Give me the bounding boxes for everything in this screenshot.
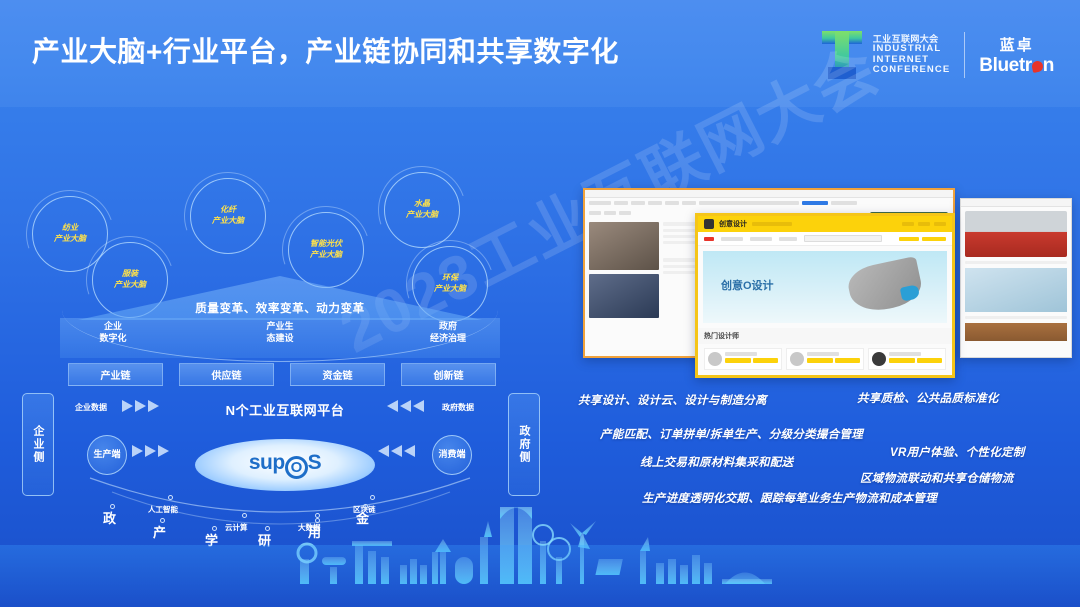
slide-root: 产业大脑+行业平台，产业链协同和共享数字化 工业 xyxy=(0,0,1080,607)
mini-chip xyxy=(665,201,679,205)
arrow-left-icon xyxy=(413,400,424,412)
city-skyline xyxy=(0,497,1080,607)
designer-card[interactable] xyxy=(786,348,864,370)
avatar xyxy=(708,352,722,366)
avatar xyxy=(790,352,804,366)
conference-logo: 工业互联网大会 INDUSTRIAL INTERNET CONFERENCE xyxy=(820,29,951,81)
chain-row: 产业链 供应链 资金链 创新链 xyxy=(68,363,498,387)
mini-topbar xyxy=(585,190,953,198)
bluetron-name-en-post: n xyxy=(1043,55,1054,76)
designer-action-button[interactable] xyxy=(917,358,943,363)
mini-text-line xyxy=(807,352,839,356)
designer-card[interactable] xyxy=(868,348,946,370)
arrow-left-icon xyxy=(404,445,415,457)
mini-chip xyxy=(604,211,616,215)
nav-item[interactable] xyxy=(750,237,772,241)
header-bar: 产业大脑+行业平台，产业链协同和共享数字化 工业 xyxy=(0,0,1080,107)
mini-chip xyxy=(699,201,799,205)
chain-box[interactable]: 供应链 xyxy=(179,363,274,386)
production-end-node[interactable]: 生产端 xyxy=(87,435,127,475)
mini-chip xyxy=(648,201,662,205)
nav-actions xyxy=(899,237,946,241)
design-platform-brand: 创意设计 xyxy=(719,219,747,229)
header-link[interactable] xyxy=(902,222,914,226)
mini-secondary-button[interactable] xyxy=(831,201,857,205)
mini-chip xyxy=(682,201,696,205)
arrow-left-icon xyxy=(387,400,398,412)
design-platform-screenshot[interactable]: 创意设计 创意O设计 xyxy=(695,213,955,378)
arrow-right-icon xyxy=(135,400,146,412)
mini-listing-column xyxy=(589,222,659,318)
chain-box[interactable]: 创新链 xyxy=(401,363,496,386)
mini-chip xyxy=(752,222,792,226)
product-listing-screenshot[interactable] xyxy=(960,198,1072,358)
industry-brain-label: 智能光伏产业大脑 xyxy=(310,239,342,261)
arrow-right-icon xyxy=(122,400,133,412)
designer-card-row xyxy=(698,344,952,374)
nav-item[interactable] xyxy=(779,237,797,241)
chain-box[interactable]: 资金链 xyxy=(290,363,385,386)
bluetron-logo: 蓝卓 Bluetrn xyxy=(979,34,1054,77)
government-side-label: 政府侧 xyxy=(516,425,532,464)
header-link[interactable] xyxy=(934,222,946,226)
arrow-left-icon xyxy=(391,445,402,457)
popular-designers-heading: 热门设计师 xyxy=(698,328,952,344)
bluetron-name-cn: 蓝卓 xyxy=(1000,34,1034,55)
mini-text-line xyxy=(725,352,757,356)
enterprise-side-label: 企业侧 xyxy=(30,425,46,464)
mini-filter-row xyxy=(585,198,953,208)
nav-item[interactable] xyxy=(704,237,714,241)
mini-chip xyxy=(631,201,645,205)
platform-title: N个工业互联网平台 xyxy=(160,400,410,419)
consumption-flow-arrows xyxy=(378,445,415,457)
brand-bar: 工业互联网大会 INDUSTRIAL INTERNET CONFERENCE 蓝… xyxy=(820,24,1054,86)
mini-chip xyxy=(614,201,628,205)
government-side-column[interactable]: 政府侧 xyxy=(508,393,540,496)
chain-box[interactable]: 产业链 xyxy=(68,363,163,386)
capability-bullet: 线上交易和原材料集采和配送 xyxy=(640,454,793,470)
hero-banner-title: 创意O设计 xyxy=(721,277,774,293)
arrow-left-icon xyxy=(378,445,389,457)
ground-glow xyxy=(0,545,1080,607)
architecture-diagram: 纺业产业大脑 服装产业大脑 化纤产业大脑 智能光伏产业大脑 水晶产业大脑 环保产 xyxy=(0,150,560,530)
design-platform-header-links xyxy=(902,222,946,226)
consumption-end-node[interactable]: 消费端 xyxy=(432,435,472,475)
industrial-t-mark-icon xyxy=(820,29,864,81)
industry-brain-label: 纺业产业大脑 xyxy=(54,223,86,245)
truck-product-image xyxy=(965,211,1067,257)
designer-card[interactable] xyxy=(704,348,782,370)
mini-topbar xyxy=(961,199,1071,207)
page-title: 产业大脑+行业平台，产业链协同和共享数字化 xyxy=(32,30,619,70)
capability-bullet: VR用户体验、个性化定制 xyxy=(890,444,1025,460)
industry-brain-node[interactable]: 水晶产业大脑 xyxy=(384,172,460,248)
sock-product-image xyxy=(845,256,925,316)
capability-bullet: 共享质检、公共品质标准化 xyxy=(857,390,999,406)
nav-item[interactable] xyxy=(721,237,743,241)
enterprise-data-label: 企业数据 xyxy=(75,402,107,413)
arrow-right-icon xyxy=(145,445,156,457)
wood-product-image xyxy=(965,323,1067,341)
mini-text-line xyxy=(889,352,921,356)
capability-bullet: 区域物流联动和共享仓储物流 xyxy=(860,470,1013,486)
designer-action-button[interactable] xyxy=(807,358,833,363)
screenshot-group: 创意设计 创意O设计 xyxy=(575,185,1075,380)
nav-action-button[interactable] xyxy=(922,237,946,241)
production-flow-arrows xyxy=(132,445,169,457)
industry-brain-node[interactable]: 智能光伏产业大脑 xyxy=(288,212,364,288)
industry-brain-label: 服装产业大脑 xyxy=(114,269,146,291)
industry-brain-label: 水晶产业大脑 xyxy=(406,199,438,221)
designer-action-button[interactable] xyxy=(725,358,751,363)
mini-product-image xyxy=(589,274,659,318)
design-platform-header: 创意设计 xyxy=(698,216,952,232)
enterprise-side-column[interactable]: 企业侧 xyxy=(22,393,54,496)
designer-action-button[interactable] xyxy=(753,358,779,363)
arrow-right-icon xyxy=(148,400,159,412)
mini-chip xyxy=(589,211,601,215)
design-platform-search-input[interactable] xyxy=(804,235,882,242)
arrow-right-icon xyxy=(132,445,143,457)
bluetron-name-en: Bluetrn xyxy=(979,55,1054,77)
mini-primary-button[interactable] xyxy=(802,201,828,205)
pillar-item[interactable]: 企业数字化 xyxy=(80,320,146,344)
industry-brain-label: 化纤产业大脑 xyxy=(212,205,244,227)
government-data-arrows xyxy=(387,400,424,412)
industry-brain-label: 环保产业大脑 xyxy=(434,273,466,295)
pillar-item[interactable]: 产业生态建设 xyxy=(247,320,313,344)
mini-product-image xyxy=(589,222,659,270)
design-platform-logo-icon xyxy=(704,219,714,229)
design-platform-nav xyxy=(698,232,952,246)
designer-action-button[interactable] xyxy=(835,358,861,363)
mini-text-line xyxy=(965,261,1067,264)
bluetron-name-en-pre: Bluetr xyxy=(979,55,1032,76)
mini-text-line xyxy=(965,316,1067,319)
pillar-item[interactable]: 政府经济治理 xyxy=(415,320,481,344)
mini-chip xyxy=(589,201,611,205)
arrow-right-icon xyxy=(158,445,169,457)
enterprise-data-arrows xyxy=(122,400,159,412)
designer-action-button[interactable] xyxy=(889,358,915,363)
nav-action-button[interactable] xyxy=(899,237,919,241)
brand-divider xyxy=(964,32,965,78)
mini-chip xyxy=(619,211,631,215)
avatar xyxy=(872,352,886,366)
header-link[interactable] xyxy=(918,222,930,226)
capability-bullet: 共享设计、设计云、设计与制造分离 xyxy=(578,392,767,408)
design-platform-hero-banner[interactable]: 创意O设计 xyxy=(703,251,947,323)
government-data-label: 政府数据 xyxy=(442,402,474,413)
shoes-product-image xyxy=(965,268,1067,312)
conference-name-en-3: CONFERENCE xyxy=(873,65,951,76)
arrow-left-icon xyxy=(400,400,411,412)
pillars-row: 企业数字化 产业生态建设 政府经济治理 xyxy=(60,320,500,356)
capability-bullet: 产能匹配、订单拼单/拆单生产、分级分类撮合管理 xyxy=(600,426,863,442)
industry-brain-node[interactable]: 化纤产业大脑 xyxy=(190,178,266,254)
